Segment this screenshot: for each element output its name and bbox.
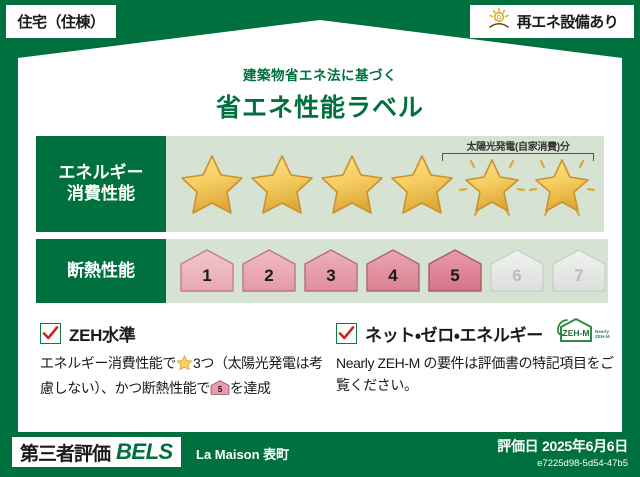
zeh-criteria-block: ZEH水準 エネルギー消費性能で3つ（太陽光発電は考慮しない）、かつ断熱性能で5… <box>40 320 326 402</box>
zeh-checkbox[interactable] <box>40 323 61 344</box>
page-title: 省エネ性能ラベル <box>18 88 622 124</box>
title-subtitle: 建築物省エネ法に基づく <box>18 64 622 84</box>
zeh-m-logo-icon: ZEH-M Nearly ZEH-M <box>553 316 611 351</box>
svg-text:ZEH-M: ZEH-M <box>595 334 610 339</box>
svg-text:ZEH-M: ZEH-M <box>563 328 590 338</box>
insulation-level-5-icon: 5 <box>210 379 230 403</box>
insulation-level-badge: 7 <box>550 248 608 294</box>
energy-label-line1: エネルギー <box>59 163 144 184</box>
zeh-desc-part1: エネルギー消費性能で <box>40 355 176 371</box>
insulation-level-badge: 5 <box>426 248 484 294</box>
energy-performance-label-box: エネルギー 消費性能 <box>36 136 166 232</box>
energy-performance-row: エネルギー 消費性能 太陽光発電(自家消費)分 <box>36 136 604 232</box>
house-type-tag: 住宅（住棟） <box>6 5 116 38</box>
star-icon <box>318 151 386 217</box>
svg-text:D: D <box>497 16 502 22</box>
label-panel: 建築物省エネ法に基づく 省エネ性能ラベル エネルギー 消費性能 太陽光発電(自家… <box>18 20 622 432</box>
sun-solar-icon: D <box>486 7 512 36</box>
bels-badge: 第三者評価 BELS <box>12 437 181 467</box>
nze-criteria-description: Nearly ZEH-M の要件は評価書の特記項目をご覧ください。 <box>336 353 622 396</box>
insulation-level-value: 5 <box>426 266 484 286</box>
zeh-criteria-header: ZEH水準 <box>40 320 326 346</box>
zeh-desc-part3: を達成 <box>230 380 271 396</box>
evaluation-id: e7225d98-5d54-47b5 <box>497 458 628 469</box>
bels-badge-en-label: BELS <box>116 439 173 465</box>
renewable-equipment-label: 再エネ設備あり <box>517 11 619 32</box>
bels-badge-jp-label: 第三者評価 <box>20 439 110 466</box>
nze-checkbox[interactable] <box>336 323 357 344</box>
nze-criteria-block: ネット・ゼロ・エネルギー ZEH-M Nearly ZEH-M Nearly Z… <box>336 320 622 396</box>
insulation-performance-row: 断熱性能 1 <box>36 239 604 303</box>
star-rating <box>166 151 596 217</box>
insulation-level-value: 3 <box>302 266 360 286</box>
energy-performance-label: 住宅（住棟） D 再エネ設備あり 建築物省エネ法に基づく 省エネ性能ラ <box>0 0 640 477</box>
building-name: La Maison 表町 <box>196 444 289 463</box>
insulation-label: 断熱性能 <box>67 261 135 282</box>
evaluation-info: 評価日 2025年6月6日 e7225d98-5d54-47b5 <box>497 436 628 469</box>
zeh-criteria-title: ZEH水準 <box>69 321 136 346</box>
insulation-level-badge: 3 <box>302 248 360 294</box>
insulation-levels-area: 1 2 3 4 <box>166 239 608 303</box>
insulation-level-value: 2 <box>240 266 298 286</box>
star-icon <box>248 151 316 217</box>
insulation-level-value: 1 <box>178 266 236 286</box>
house-type-tag-label: 住宅（住棟） <box>17 11 104 32</box>
insulation-level-value: 4 <box>364 266 422 286</box>
evaluation-date: 評価日 2025年6月6日 <box>497 436 628 456</box>
star-icon <box>388 151 456 217</box>
insulation-level-value: 7 <box>550 266 608 286</box>
svg-text:5: 5 <box>218 385 223 394</box>
star-icon-solar <box>528 151 596 217</box>
star-icon <box>176 354 193 378</box>
insulation-level-badge: 4 <box>364 248 422 294</box>
insulation-level-badge: 1 <box>178 248 236 294</box>
insulation-level-badge: 2 <box>240 248 298 294</box>
nze-criteria-header: ネット・ゼロ・エネルギー ZEH-M Nearly ZEH-M <box>336 320 622 346</box>
insulation-level-value: 6 <box>488 266 546 286</box>
energy-performance-stars-area: 太陽光発電(自家消費)分 <box>166 136 604 232</box>
energy-label-line2: 消費性能 <box>67 184 135 205</box>
nze-criteria-title: ネット・ゼロ・エネルギー <box>365 321 543 346</box>
star-icon <box>178 151 246 217</box>
insulation-level-badge: 6 <box>488 248 546 294</box>
renewable-equipment-tag: D 再エネ設備あり <box>470 5 634 38</box>
insulation-performance-label-box: 断熱性能 <box>36 239 166 303</box>
zeh-criteria-description: エネルギー消費性能で3つ（太陽光発電は考慮しない）、かつ断熱性能で5を達成 <box>40 353 326 402</box>
insulation-level-scale: 1 2 3 4 <box>166 248 608 294</box>
star-icon-solar <box>458 151 526 217</box>
title-block: 建築物省エネ法に基づく 省エネ性能ラベル <box>18 64 622 124</box>
